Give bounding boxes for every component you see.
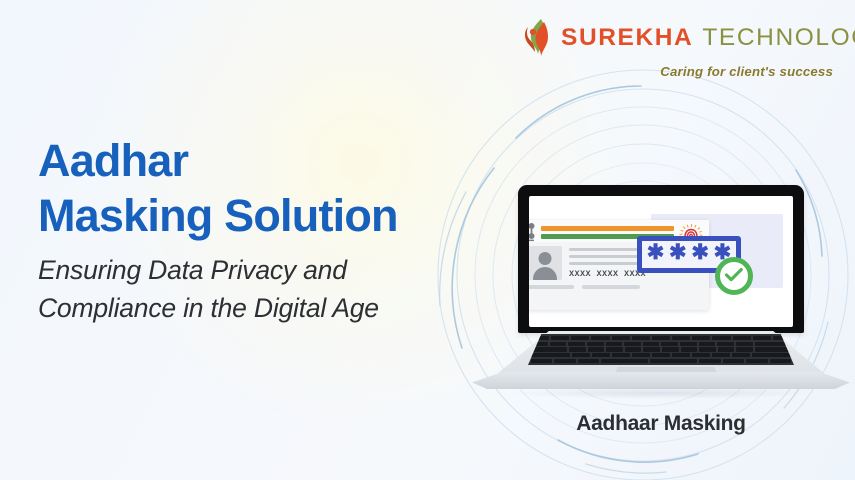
key-row (531, 342, 791, 346)
laptop-screen: XXXX XXXX XXXX ✱ ✱ ✱ ✱ (529, 196, 793, 327)
key-row (531, 347, 791, 351)
hero-copy: Aadhar Masking Solution Ensuring Data Pr… (38, 133, 478, 327)
key (718, 347, 735, 351)
key (736, 347, 753, 351)
illustration-caption: Aadhaar Masking (466, 412, 855, 436)
page-title: Aadhar Masking Solution (38, 133, 478, 243)
page-subtitle-line-2: Compliance in the Digital Age (38, 289, 478, 327)
key (569, 347, 586, 351)
logo-name-primary: SUREKHA (561, 26, 693, 51)
key (606, 342, 623, 346)
flag-bar-saffron (541, 226, 674, 231)
brand-logo[interactable]: SUREKHA TECHNOLOGIES ® Caring for client… (524, 18, 836, 80)
laptop-lid: XXXX XXXX XXXX ✱ ✱ ✱ ✱ (518, 185, 804, 333)
laptop-shadow (506, 387, 816, 399)
key (662, 347, 679, 351)
key (568, 342, 585, 346)
key (578, 359, 599, 363)
key (591, 336, 609, 340)
logo-row: SUREKHA TECHNOLOGIES ® (524, 18, 836, 58)
key (717, 342, 734, 346)
key (587, 342, 604, 346)
key (712, 336, 730, 340)
key (753, 336, 771, 340)
aadhaar-card-footer (529, 280, 709, 289)
page-title-line-1: Aadhar (38, 133, 478, 188)
key (572, 353, 590, 357)
key (643, 342, 660, 346)
key-row (531, 336, 791, 340)
footer-bar (582, 285, 640, 289)
key (699, 342, 716, 346)
key (625, 347, 642, 351)
key (692, 353, 710, 357)
logo-wordmark: SUREKHA TECHNOLOGIES ® (561, 26, 855, 51)
person-avatar-icon (529, 246, 562, 280)
key (672, 353, 690, 357)
key (770, 359, 791, 363)
key (723, 359, 744, 363)
key (755, 347, 791, 351)
key (699, 359, 720, 363)
key (554, 359, 575, 363)
banner-stage: SUREKHA TECHNOLOGIES ® Caring for client… (0, 0, 855, 480)
key (551, 336, 569, 340)
key (699, 347, 716, 351)
key (588, 347, 605, 351)
key-row (531, 353, 791, 357)
key (531, 353, 570, 357)
key (661, 342, 678, 346)
key (672, 336, 690, 340)
key (601, 359, 648, 363)
key (746, 359, 767, 363)
key (624, 342, 641, 346)
key (632, 353, 650, 357)
key-row (531, 359, 791, 363)
avatar-body (533, 267, 557, 280)
key (652, 336, 670, 340)
check-circle-icon (715, 257, 753, 295)
mask-char: ✱ (647, 246, 665, 260)
laptop-keyboard (528, 334, 794, 365)
key (612, 353, 630, 357)
logo-tagline: Caring for client's success (524, 64, 836, 79)
key (606, 347, 623, 351)
key (681, 347, 698, 351)
key (712, 353, 730, 357)
key (652, 353, 670, 357)
key (531, 347, 567, 351)
key (632, 336, 650, 340)
mask-char: ✱ (669, 246, 687, 260)
page-subtitle: Ensuring Data Privacy and Compliance in … (38, 251, 478, 327)
key (592, 353, 610, 357)
key (733, 336, 751, 340)
logo-name-secondary: TECHNOLOGIES (702, 26, 855, 51)
key (571, 336, 589, 340)
key (736, 342, 753, 346)
footer-bar (529, 285, 574, 289)
key (752, 353, 791, 357)
key (531, 359, 552, 363)
page-subtitle-line-1: Ensuring Data Privacy and (38, 251, 478, 289)
key (692, 336, 710, 340)
laptop-base (466, 331, 855, 393)
mask-char: ✱ (691, 246, 709, 260)
key (650, 359, 697, 363)
key (531, 336, 549, 340)
key (773, 336, 791, 340)
laptop-illustration: XXXX XXXX XXXX ✱ ✱ ✱ ✱ (466, 185, 855, 400)
page-title-line-2: Masking Solution (38, 188, 478, 243)
key (550, 342, 567, 346)
key (680, 342, 697, 346)
flame-icon (524, 18, 554, 58)
india-emblem-icon (529, 222, 536, 242)
key (643, 347, 660, 351)
key (612, 336, 630, 340)
key (732, 353, 750, 357)
avatar-head (539, 252, 552, 265)
